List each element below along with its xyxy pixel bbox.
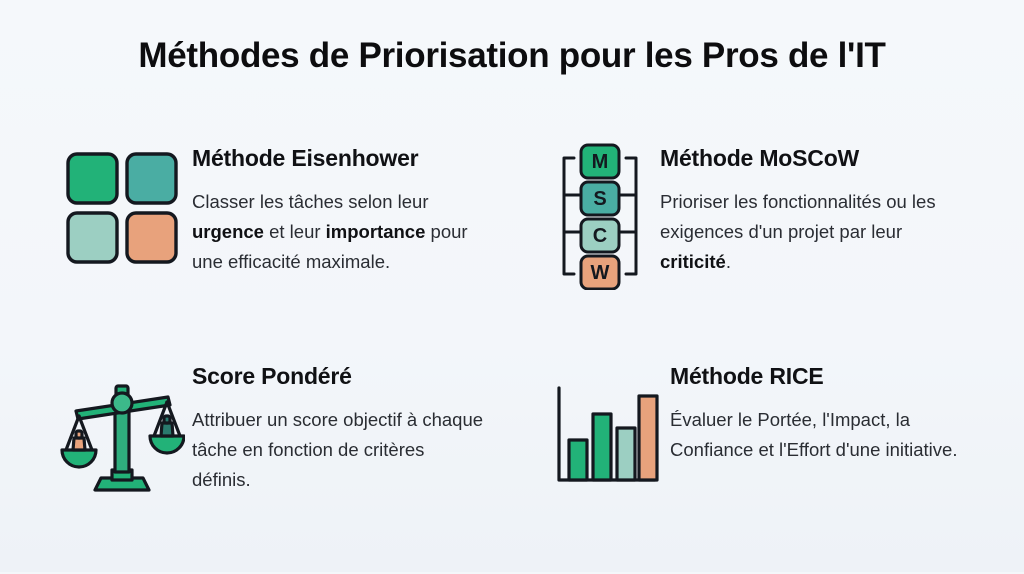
moscow-letter-s: S — [593, 188, 606, 210]
card-moscow: M S C W Méthode MoSCoW Prioriser les fon… — [512, 138, 1024, 356]
page-title: Méthodes de Priorisation pour les Pros d… — [0, 36, 1024, 76]
card-eisenhower: Méthode Eisenhower Classer les tâches se… — [0, 138, 512, 356]
card-desc-rice: Évaluer le Portée, l'Impact, la Confianc… — [670, 405, 962, 465]
icon-container-score-pondere — [52, 356, 192, 498]
icon-container-rice — [540, 356, 670, 488]
text-block-moscow: Méthode MoSCoW Prioriser les fonctionnal… — [660, 138, 1006, 277]
emphasis-text: urgence — [192, 221, 264, 242]
card-desc-moscow: Prioriser les fonctionnalités ou les exi… — [660, 187, 950, 277]
moscow-letter-m: M — [592, 151, 609, 173]
card-title-rice: Méthode RICE — [670, 364, 1006, 389]
cards-grid: Méthode Eisenhower Classer les tâches se… — [0, 138, 1024, 574]
plain-text: . — [726, 251, 731, 272]
plain-text: et leur — [264, 221, 326, 242]
emphasis-text: importance — [326, 221, 426, 242]
card-rice: Méthode RICE Évaluer le Portée, l'Impact… — [512, 356, 1024, 574]
emphasis-text: criticité — [660, 251, 726, 272]
card-title-score-pondere: Score Pondéré — [192, 364, 494, 389]
infographic-page: Méthodes de Priorisation pour les Pros d… — [0, 0, 1024, 572]
icon-container-moscow: M S C W — [540, 138, 660, 290]
matrix-quadrants-icon — [62, 148, 182, 268]
text-block-rice: Méthode RICE Évaluer le Portée, l'Impact… — [670, 356, 1006, 465]
plain-text: Évaluer le Portée, l'Impact, la Confianc… — [670, 409, 957, 460]
moscow-letter-w: W — [591, 262, 610, 284]
bar-chart-icon — [551, 384, 659, 488]
moscow-stack-icon: M S C W — [554, 142, 646, 290]
moscow-letter-c: C — [593, 225, 607, 247]
card-desc-score-pondere: Attribuer un score objectif à chaque tâc… — [192, 405, 484, 495]
card-score-pondere: Score Pondéré Attribuer un score objecti… — [0, 356, 512, 574]
plain-text: Attribuer un score objectif à chaque tâc… — [192, 409, 483, 490]
card-title-eisenhower: Méthode Eisenhower — [192, 146, 494, 171]
balance-scale-icon — [59, 378, 185, 498]
icon-container-eisenhower — [52, 138, 192, 268]
text-block-eisenhower: Méthode Eisenhower Classer les tâches se… — [192, 138, 494, 277]
plain-text: Prioriser les fonctionnalités ou les exi… — [660, 191, 936, 242]
card-desc-eisenhower: Classer les tâches selon leur urgence et… — [192, 187, 482, 277]
plain-text: Classer les tâches selon leur — [192, 191, 429, 212]
text-block-score-pondere: Score Pondéré Attribuer un score objecti… — [192, 356, 494, 495]
card-title-moscow: Méthode MoSCoW — [660, 146, 1006, 171]
